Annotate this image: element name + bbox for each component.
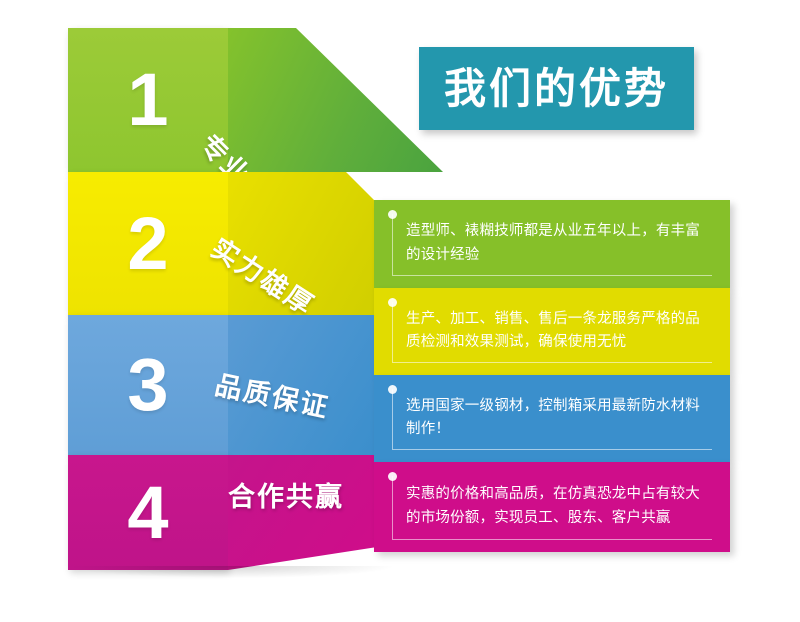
description-text-2: 生产、加工、销售、售后一条龙服务严格的品质检测和效果测试，确保使用无忧 — [406, 308, 712, 356]
step-number-2: 2 — [127, 207, 168, 281]
step-number-4: 4 — [127, 476, 168, 550]
description-panel-1: 造型师、裱糊技师都是从业五年以上，有丰富的设计经验 — [374, 200, 730, 288]
title-banner: 我们的优势 — [419, 47, 694, 130]
step-label-4: 合作共赢 — [228, 475, 344, 514]
description-panel-3: 选用国家一级钢材，控制箱采用最新防水材料制作！ — [374, 375, 730, 462]
page-title: 我们的优势 — [444, 68, 669, 110]
step-number-3: 3 — [127, 348, 168, 422]
description-text-3: 选用国家一级钢材，控制箱采用最新防水材料制作！ — [406, 395, 712, 443]
step-number-1: 1 — [127, 63, 168, 137]
step-wedge-1 — [228, 28, 443, 172]
description-panel-2: 生产、加工、销售、售后一条龙服务严格的品质检测和效果测试，确保使用无忧 — [374, 288, 730, 375]
step-number-face-2: 2 — [68, 172, 228, 315]
step-block-1: 1 专业的团队 — [68, 28, 443, 172]
floor-shadow — [72, 566, 392, 578]
description-text-1: 造型师、裱糊技师都是从业五年以上，有丰富的设计经验 — [406, 220, 712, 268]
step-number-face-4: 4 — [68, 455, 228, 570]
description-text-4: 实惠的价格和高品质，在仿真恐龙中占有较大的市场份额，实现员工、股东、客户共赢 — [406, 483, 712, 531]
infographic-canvas: 我们的优势 1 专业的团队 2 实力雄厚 3 品质保证 4 合作共赢 — [0, 0, 800, 622]
description-panel-4: 实惠的价格和高品质，在仿真恐龙中占有较大的市场份额，实现员工、股东、客户共赢 — [374, 462, 730, 552]
step-number-face-3: 3 — [68, 315, 228, 455]
